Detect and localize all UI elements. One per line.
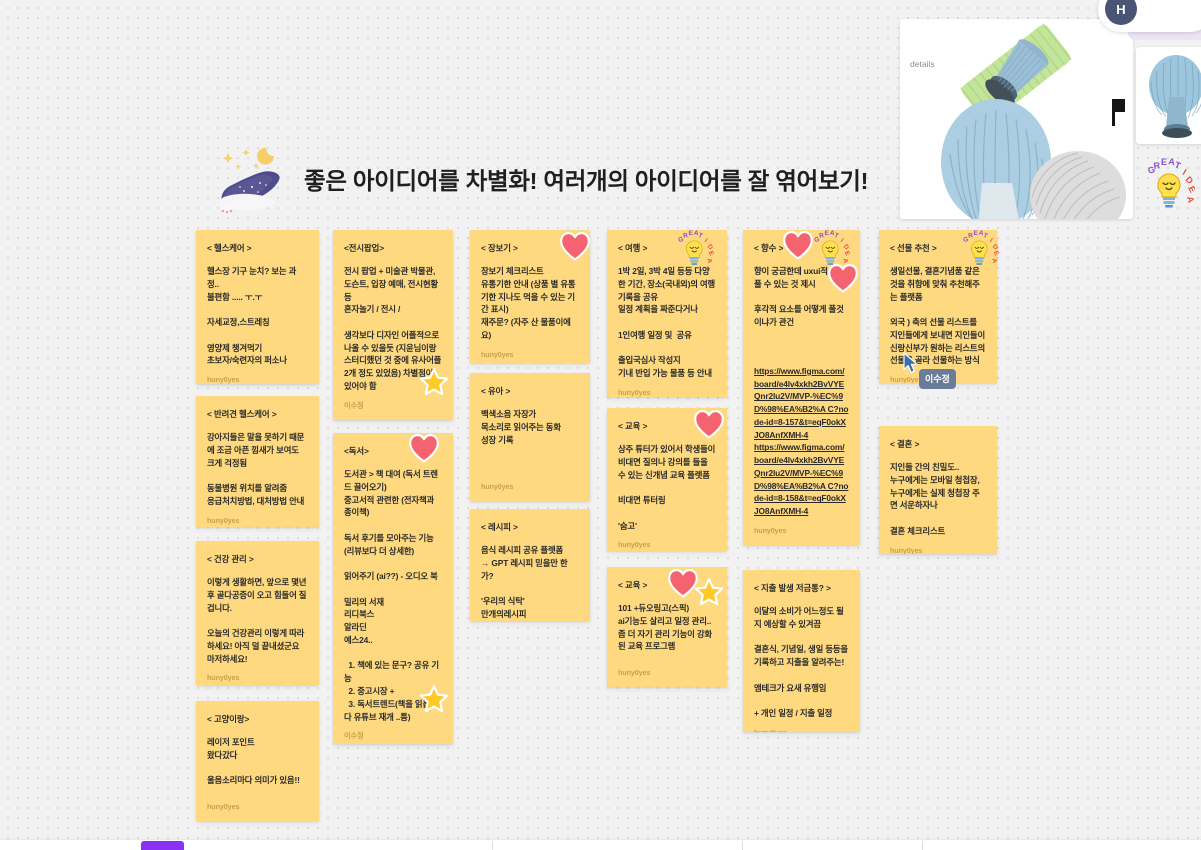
- sticky-note-education-2[interactable]: < 교육 >101 +듀오링고(스픽) ai기능도 살리고 일정 관리.. 좀 …: [607, 567, 727, 687]
- note-body: 상주 튜터가 있어서 학생들이 비대면 질의나 강의를 들을 수 있는 신개념 …: [618, 443, 716, 532]
- sticky-note-gift-recommend[interactable]: < 선물 추천 >생일선물, 결혼기념품 같은 것을 취향에 맞춰 추천해주는 …: [879, 230, 997, 383]
- note-title: < 여행 >: [618, 242, 716, 254]
- note-author: huny0yes: [481, 350, 579, 359]
- note-body: 장보기 체크리스트 유통기한 안내 (상품 별 유통기한 지나도 먹을 수 있는…: [481, 265, 579, 342]
- note-body: 지인들 간의 친밀도.. 누구에게는 모바일 청첩장, 누구에게는 실제 청첩장…: [890, 461, 986, 538]
- note-title: < 건강 관리 >: [207, 553, 308, 565]
- active-page-tab[interactable]: [141, 841, 184, 850]
- note-body: 생일선물, 결혼기념품 같은 것을 취향에 맞춰 추천해주는 플랫폼 외국 ) …: [890, 265, 986, 367]
- sticky-note-infant[interactable]: < 유아 >백색소음 자장가 목소리로 읽어주는 동화 성장 기록huny0ye…: [470, 373, 590, 501]
- note-author: huny0yes: [207, 375, 308, 384]
- bottom-toolbar-strip[interactable]: [0, 839, 1201, 850]
- note-title: < 향수 >: [754, 242, 849, 254]
- note-link[interactable]: https://www.figma.com/board/e4lv4xkh2BvV…: [754, 365, 849, 442]
- blue-vase-thumbnail-image: [1136, 47, 1201, 144]
- sticky-note-cat[interactable]: < 고양이랑>레이저 포인트 왔다갔다 울음소리마다 의미가 있음!!huny0…: [196, 701, 319, 821]
- sticky-note-shopping[interactable]: < 장보기 >장보기 체크리스트 유통기한 안내 (상품 별 유통기한 지나도 …: [470, 230, 590, 363]
- note-title: < 결혼 >: [890, 438, 986, 450]
- note-title: <독서>: [344, 445, 442, 457]
- great-idea-sticker: G R E A T I D E A: [1143, 158, 1195, 213]
- note-body: 향이 궁금한데 uxui적으로 풀 수 있는 것 제시 후각적 요소를 어떻게 …: [754, 265, 849, 365]
- note-author: huny0yes: [481, 482, 579, 491]
- note-body: 1박 2일, 3박 4일 등등 다양한 기간, 장소(국내외)의 여행 기록을 …: [618, 265, 716, 380]
- vase-render-image: [900, 19, 1133, 219]
- sticky-note-travel[interactable]: < 여행 >1박 2일, 3박 4일 등등 다양한 기간, 장소(국내외)의 여…: [607, 230, 727, 397]
- note-author: huny0yes: [890, 375, 986, 383]
- note-author: huny0yes: [207, 516, 308, 525]
- svg-text:E: E: [1186, 184, 1195, 194]
- thumbnail-panel[interactable]: [1136, 47, 1201, 144]
- note-body: 백색소음 자장가 목소리로 읽어주는 동화 성장 기록: [481, 408, 579, 474]
- note-author: huny0yes: [618, 540, 716, 549]
- note-title: < 교육 >: [618, 579, 716, 591]
- toolbar-divider: [492, 841, 493, 850]
- flag-marker-icon[interactable]: [1112, 99, 1125, 131]
- note-title: <전시팝업>: [344, 242, 442, 254]
- note-body: 이렇게 생활하면, 앞으로 몇년 후 골다공증이 오고 힘들어 질 겁니다. 오…: [207, 576, 308, 665]
- svg-text:R: R: [1153, 160, 1161, 171]
- sticky-note-fragrance[interactable]: < 향수 >향이 궁금한데 uxui적으로 풀 수 있는 것 제시 후각적 요소…: [743, 230, 860, 545]
- sticky-note-health-management[interactable]: < 건강 관리 >이렇게 생활하면, 앞으로 몇년 후 골다공증이 오고 힘들어…: [196, 541, 319, 685]
- svg-text:E: E: [1161, 158, 1167, 167]
- image-panel-label: details: [910, 59, 935, 69]
- note-author: 이수정: [344, 731, 442, 741]
- note-body: 전시 팝업 + 미술관 박물관, 도슨트, 입장 예매, 전시현황 등 혼자놀기…: [344, 265, 442, 393]
- note-body: 강아지들은 말을 못하기 때문에 조금 아픈 낌새가 보여도 크게 걱정됨 동물…: [207, 431, 308, 508]
- note-author: huny0yes: [754, 526, 849, 535]
- note-author: huny0yes: [890, 546, 986, 554]
- toolbar-divider: [742, 841, 743, 850]
- note-title: < 선물 추천 >: [890, 242, 986, 254]
- sticky-note-pet-healthcare[interactable]: < 반려견 헬스케어 >강아지들은 말을 못하기 때문에 조금 아픈 낌새가 보…: [196, 396, 319, 527]
- note-title: < 헬스케어 >: [207, 242, 308, 254]
- note-author: huny0yes: [754, 728, 849, 732]
- note-title: < 반려견 헬스케어 >: [207, 408, 308, 420]
- note-author: huny0yes: [207, 673, 308, 682]
- sticky-note-wedding[interactable]: < 결혼 >지인들 간의 친밀도.. 누구에게는 모바일 청첩장, 누구에게는 …: [879, 426, 997, 554]
- note-title: < 지출 발생 저금통? >: [754, 582, 849, 594]
- sleeping-cap-moon-sticker: [216, 147, 296, 215]
- note-title: < 장보기 >: [481, 242, 579, 254]
- note-body: 레이저 포인트 왔다갔다 울음소리마다 의미가 있음!!: [207, 736, 308, 794]
- note-title: < 레시피 >: [481, 521, 579, 533]
- sticky-note-recipe[interactable]: < 레시피 >음식 레시피 공유 플렛폼 → GPT 레시피 믿을만 한가? '…: [470, 509, 590, 621]
- note-title: < 교육 >: [618, 420, 716, 432]
- note-body: 도서관 > 책 대여 (독서 트렌드 끌어오기) 중고서적 관련한 (전자책과 …: [344, 468, 442, 723]
- avatar[interactable]: H: [1105, 0, 1137, 25]
- page-title: 좋은 아이디어를 차별화! 여러개의 아이디어를 잘 엮어보기!: [304, 167, 868, 195]
- toolbar-divider: [922, 841, 923, 850]
- image-preview-panel[interactable]: details: [900, 19, 1133, 219]
- note-title: < 유아 >: [481, 385, 579, 397]
- sticky-note-education-1[interactable]: < 교육 >상주 튜터가 있어서 학생들이 비대면 질의나 강의를 들을 수 있…: [607, 408, 727, 551]
- sticky-note-healthcare[interactable]: < 헬스케어 >헬스장 기구 눈치? 보는 과정.. 불편함 ..... ㅜ.ㅜ…: [196, 230, 319, 384]
- svg-text:A: A: [1185, 195, 1195, 204]
- sticky-note-saving-jar[interactable]: < 지출 발생 저금통? >이달의 소비가 어느정도 될지 예상할 수 있겨끔 …: [743, 570, 860, 732]
- note-title: < 고양이랑>: [207, 713, 308, 725]
- note-body-links[interactable]: https://www.figma.com/board/e4lv4xkh2BvV…: [754, 365, 849, 518]
- collaborator-avatar-pill[interactable]: H: [1098, 0, 1201, 32]
- note-author: huny0yes: [618, 388, 716, 397]
- note-author: 이수정: [344, 401, 442, 411]
- note-body: 헬스장 기구 눈치? 보는 과정.. 불편함 ..... ㅜ.ㅜ 자세교정,스트…: [207, 265, 308, 367]
- board-title-row[interactable]: 좋은 아이디어를 차별화! 여러개의 아이디어를 잘 엮어보기!: [216, 146, 896, 216]
- note-body: 이달의 소비가 어느정도 될지 예상할 수 있겨끔 결혼식, 기념일, 생일 등…: [754, 605, 849, 720]
- note-body: 101 +듀오링고(스픽) ai기능도 살리고 일정 관리.. 좀 더 자기 관…: [618, 602, 716, 660]
- note-body: 음식 레시피 공유 플렛폼 → GPT 레시피 믿을만 한가? '우리의 식탁'…: [481, 544, 579, 621]
- note-author: huny0yes: [618, 668, 716, 677]
- sticky-note-reading[interactable]: <독서>도서관 > 책 대여 (독서 트렌드 끌어오기) 중고서적 관련한 (전…: [333, 433, 453, 744]
- sticky-note-exhibition-popup[interactable]: <전시팝업>전시 팝업 + 미술관 박물관, 도슨트, 입장 예매, 전시현황 …: [333, 230, 453, 420]
- svg-text:I: I: [1181, 167, 1188, 177]
- note-author: huny0yes: [207, 802, 308, 811]
- note-link[interactable]: https://www.figma.com/board/e4lv4xkh2BvV…: [754, 441, 849, 518]
